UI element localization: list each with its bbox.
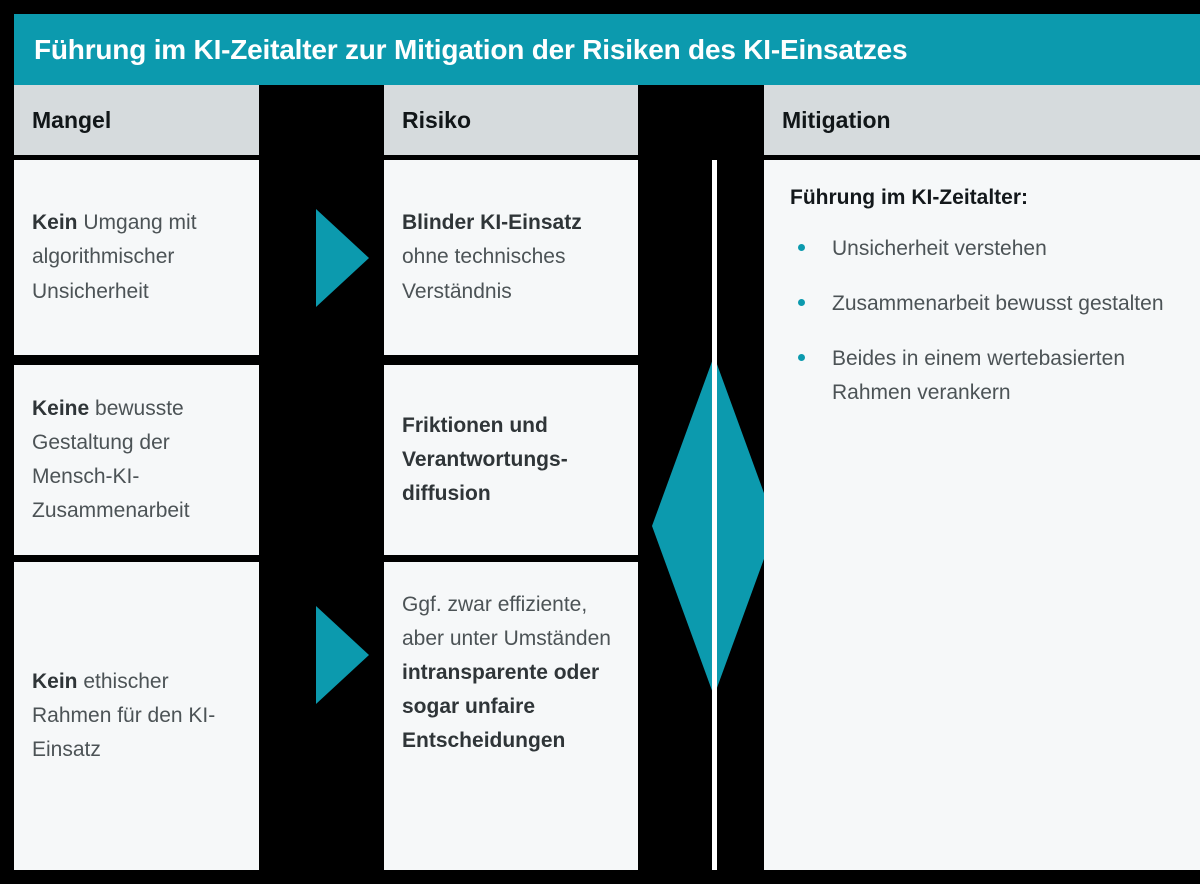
mitigation-item-text: Beides in einem wertebasierten Rahmen ve… [832, 347, 1125, 403]
arrow-cell-row1 [259, 160, 384, 355]
arrow-cell-row2 [259, 560, 384, 750]
risiko-cell-row1: Blinder KI-Einsatz ohne technisches Vers… [384, 160, 638, 355]
risiko-rest-row1: ohne technisches Verständnis [402, 245, 565, 302]
column-header-mangel-label: Mangel [14, 107, 111, 134]
table-header-row: Mangel Risiko Mitigation [14, 85, 1200, 155]
column-header-mitigation: Mitigation [764, 85, 1200, 155]
bullet-icon [798, 244, 805, 251]
mangel-text-row3: Kein ethischer Rahmen für den KI-Einsatz [14, 665, 259, 767]
risiko-text-row3: Ggf. zwar effiziente, aber unter Umständ… [384, 588, 638, 758]
mangel-strong-row2: Keine [32, 397, 89, 420]
table-body: Kein Umgang mit algorithmischer Unsicher… [14, 160, 1200, 870]
diamond-arrow-upper-icon [652, 356, 764, 526]
bullet-icon [798, 354, 805, 361]
mangel-strong-row3: Kein [32, 670, 78, 693]
mitigation-item-text: Unsicherheit verstehen [832, 237, 1047, 260]
infographic-canvas: Führung im KI-Zeitalter zur Mitigation d… [0, 0, 1200, 884]
mitigation-panel: Führung im KI-Zeitalter: Unsicherheit ve… [764, 160, 1200, 870]
mangel-text-row1: Kein Umgang mit algorithmischer Unsicher… [14, 206, 259, 308]
table-row: Kein Umgang mit algorithmischer Unsicher… [14, 160, 259, 355]
mitigation-list: Unsicherheit verstehen Zusammenarbeit be… [790, 232, 1176, 409]
mangel-text-row2: Keine bewusste Gestaltung der Mensch-KI-… [14, 392, 259, 528]
risiko-cell-row2: Friktionen und Verantwortungs-diffusion [384, 365, 638, 555]
header-spacer-center-band [638, 85, 764, 155]
play-triangle-icon [316, 606, 369, 704]
mitigation-heading: Führung im KI-Zeitalter: [790, 186, 1176, 210]
table-row: Keine bewusste Gestaltung der Mensch-KI-… [14, 365, 259, 555]
risiko-bold-row3: intransparente oder sogar unfaire Entsch… [402, 661, 599, 752]
page-title: Führung im KI-Zeitalter zur Mitigation d… [14, 34, 907, 66]
mitigation-item-text: Zusammenarbeit bewusst gestalten [832, 292, 1164, 315]
column-header-risiko-label: Risiko [384, 107, 471, 134]
center-divider-line [712, 160, 717, 870]
risiko-strong-row2: Friktionen und Verantwortungs-diffusion [402, 414, 568, 505]
list-item: Beides in einem wertebasierten Rahmen ve… [790, 342, 1176, 408]
column-header-risiko: Risiko [384, 85, 638, 155]
list-item: Unsicherheit verstehen [790, 232, 1176, 265]
table-row: Kein ethischer Rahmen für den KI-Einsatz [14, 562, 259, 870]
risiko-rest-row3: Ggf. zwar effiziente, aber unter Umständ… [402, 593, 611, 650]
list-item: Zusammenarbeit bewusst gestalten [790, 287, 1176, 320]
column-header-mangel: Mangel [14, 85, 259, 155]
bullet-icon [798, 299, 805, 306]
mangel-strong-row1: Kein [32, 211, 78, 234]
title-bar: Führung im KI-Zeitalter zur Mitigation d… [14, 14, 1200, 85]
header-spacer-arrow-column [259, 85, 384, 155]
center-arrow-band [638, 160, 764, 870]
play-triangle-icon [316, 209, 369, 307]
column-header-mitigation-label: Mitigation [764, 107, 891, 134]
risiko-text-row2: Friktionen und Verantwortungs-diffusion [384, 409, 638, 511]
risiko-strong-row1: Blinder KI-Einsatz [402, 211, 582, 234]
risiko-cell-row3: Ggf. zwar effiziente, aber unter Umständ… [384, 562, 638, 870]
risiko-text-row1: Blinder KI-Einsatz ohne technisches Vers… [384, 206, 638, 308]
diamond-arrow-lower-icon [652, 526, 764, 696]
